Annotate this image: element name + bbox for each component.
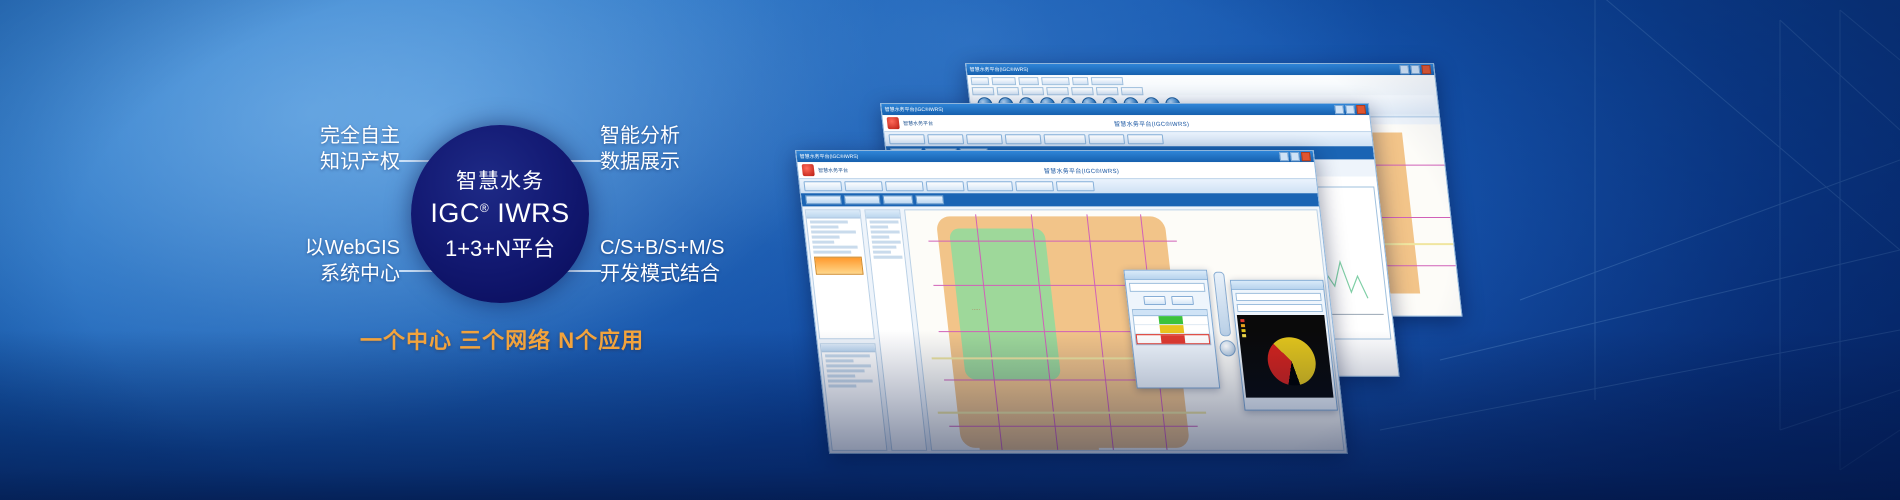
window-controls[interactable] [1334, 105, 1366, 114]
middle-window-titlebar[interactable]: 智慧水务平台(IGC®IWRS) [881, 104, 1369, 115]
attribute-row [828, 379, 873, 382]
ribbon-chip[interactable] [1071, 87, 1094, 95]
middle-window-brandbar: 智慧水务平台 智慧水务平台(IGC®IWRS) [882, 115, 1371, 132]
nav-button[interactable] [1005, 134, 1042, 144]
statistics-dialog[interactable] [1230, 280, 1338, 411]
nav-button[interactable] [1015, 181, 1054, 191]
attribute-row [826, 364, 871, 367]
feature-bottom-right: C/S+B/S+M/S 开发模式结合 [600, 235, 820, 288]
feature-top-right-line1: 智能分析 [600, 123, 820, 149]
ribbon-chip[interactable] [1091, 77, 1124, 85]
pie-chart [1265, 337, 1318, 385]
nav-button[interactable] [885, 181, 924, 191]
app-label: 智慧水务平台 [903, 120, 934, 127]
tree-item[interactable] [811, 231, 856, 234]
ribbon-row [972, 87, 1434, 95]
station-field[interactable] [1237, 304, 1323, 312]
nav-button[interactable] [966, 181, 1013, 191]
feature-top-right-line2: 数据展示 [600, 149, 820, 175]
window-controls[interactable] [1279, 152, 1311, 161]
table-row[interactable] [1135, 325, 1210, 334]
map-label: ····· [972, 307, 981, 313]
nav-button[interactable] [888, 134, 925, 144]
feature-top-right: 智能分析 数据展示 [600, 123, 820, 176]
front-window[interactable]: 智慧水务平台(IGC®IWRS) 智慧水务平台 智慧水务平台(IGC®IWRS) [795, 150, 1348, 454]
ribbon-chip[interactable] [1046, 87, 1069, 95]
attribute-row [828, 384, 856, 387]
table-row[interactable] [1134, 316, 1209, 325]
pie-legend [1240, 319, 1246, 339]
front-window-subnav[interactable] [801, 193, 1319, 206]
tool-item[interactable] [872, 246, 896, 249]
dialog-cancel-button[interactable] [1171, 296, 1194, 305]
feature-top-left: 完全自主 知识产权 [230, 123, 400, 176]
ribbon-chip[interactable] [972, 87, 995, 95]
platform-title: 智慧水务平台(IGC®IWRS) [1043, 166, 1119, 175]
attribute-panel[interactable] [820, 343, 888, 451]
dialog-input[interactable] [1129, 283, 1206, 292]
tool-item[interactable] [873, 256, 902, 259]
platform-title: 智慧水务平台(IGC®IWRS) [1113, 119, 1189, 128]
nav-button[interactable] [844, 181, 883, 191]
app-label: 智慧水务平台 [818, 167, 849, 174]
middle-window-title: 智慧水务平台(IGC®IWRS) [884, 106, 943, 113]
ribbon-chip[interactable] [1121, 87, 1144, 95]
subnav-tab[interactable] [883, 195, 914, 204]
attribute-row [827, 369, 865, 372]
ribbon-chip[interactable] [1021, 87, 1044, 95]
ribbon-chip[interactable] [1018, 77, 1039, 85]
legend-swatch [814, 257, 864, 275]
panel-header [806, 210, 861, 218]
dialog-titlebar[interactable] [1125, 271, 1207, 280]
front-window-brandbar: 智慧水务平台 智慧水务平台(IGC®IWRS) [797, 162, 1316, 179]
nav-button[interactable] [966, 134, 1003, 144]
banner-stage: 智慧水务平台(IGC®IWRS) [0, 0, 1900, 500]
ribbon-row [971, 77, 1433, 85]
nav-button[interactable] [803, 181, 842, 191]
ribbon-chip[interactable] [997, 87, 1020, 95]
dialog-table[interactable] [1132, 309, 1212, 345]
nav-button[interactable] [1088, 134, 1125, 144]
front-window-titlebar[interactable]: 智慧水务平台(IGC®IWRS) [796, 151, 1314, 162]
attribute-row [825, 354, 870, 357]
ribbon-chip[interactable] [1041, 77, 1070, 85]
hub-circle: 智慧水务 IGC® IWRS 1+3+N平台 [411, 125, 589, 303]
nav-button[interactable] [1127, 134, 1164, 144]
front-window-navrow[interactable] [799, 179, 1317, 193]
feature-bottom-right-line2: 开发模式结合 [600, 261, 820, 287]
pie-chart-panel[interactable] [1237, 315, 1334, 398]
measurement-dialog[interactable] [1123, 270, 1220, 389]
subnav-tab[interactable] [915, 195, 944, 204]
feature-bottom-left-line1: 以WebGIS [230, 235, 400, 261]
ribbon-chip[interactable] [971, 77, 990, 85]
hub-product-line: IGC® IWRS [430, 198, 569, 229]
attribute-row [827, 374, 855, 377]
hub-name: 智慧水务 [456, 165, 544, 195]
front-window-workspace: ····· [802, 207, 1346, 453]
subnav-tab[interactable] [844, 195, 881, 204]
back-window-titlebar[interactable]: 智慧水务平台(IGC®IWRS) [966, 64, 1434, 75]
nav-button[interactable] [927, 134, 964, 144]
panel-header [865, 210, 900, 218]
app-logo-icon [887, 117, 900, 129]
hub-platform: 1+3+N平台 [445, 231, 555, 263]
ribbon-chip[interactable] [991, 77, 1016, 85]
feature-top-left-line2: 知识产权 [230, 149, 400, 175]
ribbon-chip[interactable] [1096, 87, 1119, 95]
window-controls[interactable] [1399, 65, 1431, 74]
tree-item[interactable] [810, 220, 848, 223]
nav-button[interactable] [926, 181, 965, 191]
attribute-row [825, 359, 853, 362]
back-window-title: 智慧水务平台(IGC®IWRS) [969, 66, 1028, 73]
tree-item[interactable] [810, 225, 838, 228]
registered-mark-icon: ® [480, 201, 489, 215]
tool-item[interactable] [870, 225, 888, 228]
hub-product: IGC [430, 198, 480, 228]
feature-bottom-right-line1: C/S+B/S+M/S [600, 235, 820, 261]
screenshot-stack: 智慧水务平台(IGC®IWRS) [795, 55, 1395, 385]
tool-item[interactable] [873, 251, 891, 254]
dialog-ok-button[interactable] [1143, 296, 1166, 305]
ribbon-chip[interactable] [1072, 77, 1089, 85]
feature-bottom-left: 以WebGIS 系统中心 [230, 235, 400, 288]
feature-top-left-line1: 完全自主 [230, 123, 400, 149]
tagline: 一个中心 三个网络 N个应用 [360, 323, 644, 355]
nav-button[interactable] [1056, 181, 1095, 191]
tool-item[interactable] [871, 236, 889, 239]
table-row[interactable] [1136, 334, 1211, 344]
middle-window-navrow[interactable] [884, 132, 1372, 146]
tool-item[interactable] [872, 241, 901, 244]
tool-item[interactable] [871, 231, 900, 234]
tool-item[interactable] [869, 220, 898, 223]
panel-header [821, 344, 876, 352]
feature-bottom-left-line2: 系统中心 [230, 261, 400, 287]
subnav-tab[interactable] [805, 195, 842, 204]
nav-button[interactable] [1043, 134, 1086, 144]
date-field[interactable] [1235, 293, 1321, 301]
hub-product2: IWRS [497, 198, 570, 228]
dialog-titlebar[interactable] [1231, 281, 1323, 290]
